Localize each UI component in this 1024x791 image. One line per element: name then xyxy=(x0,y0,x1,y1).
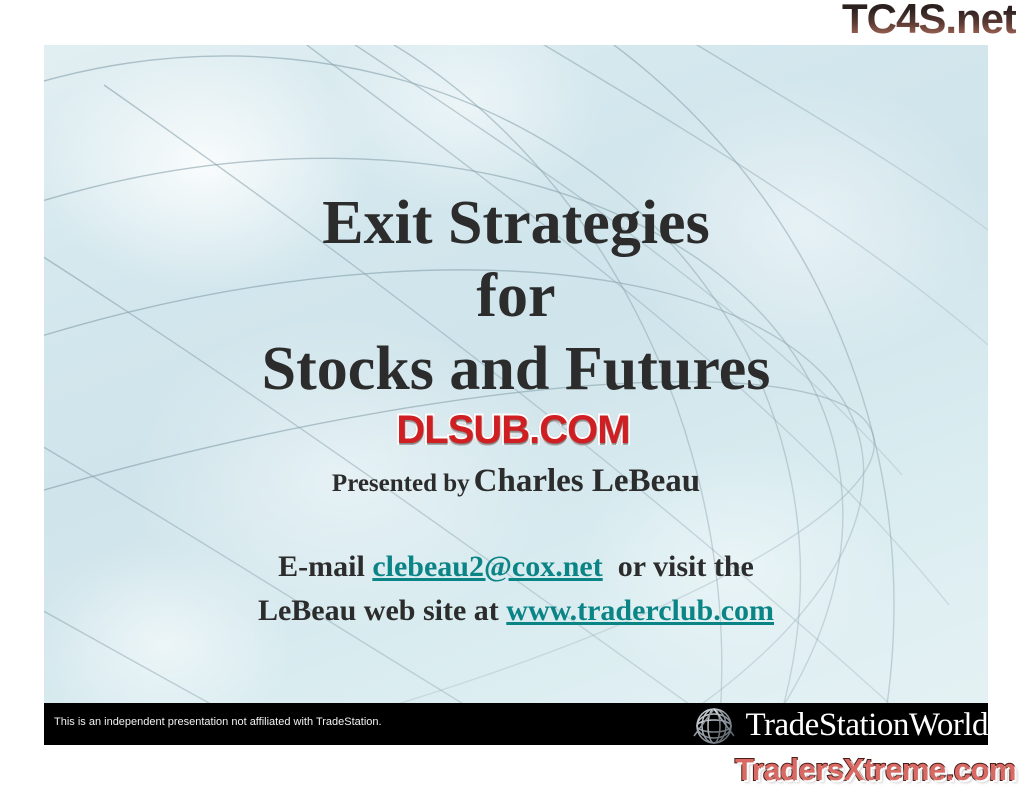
email-label: E-mail xyxy=(278,550,365,583)
logo-wordmark: TradeStationWorld xyxy=(746,707,988,743)
presentation-slide: Exit Strategies for Stocks and Futures D… xyxy=(44,45,988,745)
tradersxtreme-watermark: TradersXtreme.com xyxy=(735,754,1016,785)
website-label: LeBeau web site at xyxy=(258,594,499,627)
tradestationworld-logo: TradeStationWorld xyxy=(688,705,988,745)
title-line-1: Exit Strategies xyxy=(44,187,988,260)
presenter-line: Presented by Charles LeBeau xyxy=(44,463,988,500)
contact-block: E-mail clebeau2@cox.net or visit the LeB… xyxy=(44,545,988,634)
slide-title-block: Exit Strategies for Stocks and Futures xyxy=(44,187,988,406)
email-link[interactable]: clebeau2@cox.net xyxy=(372,550,602,583)
presented-by-label: Presented by xyxy=(332,470,470,497)
contact-website-line: LeBeau web site at www.traderclub.com xyxy=(44,589,988,633)
tradestationworld-logo-text: TradeStationWorld xyxy=(746,709,988,742)
email-line-suffix: or visit the xyxy=(618,550,754,583)
disclaimer-text: This is an independent presentation not … xyxy=(54,716,382,728)
presenter-name: Charles LeBeau xyxy=(474,463,700,499)
dlsub-watermark-text: DLSUB.COM xyxy=(396,408,629,452)
website-link[interactable]: www.traderclub.com xyxy=(506,594,774,627)
footer-bar: This is an independent presentation not … xyxy=(44,703,988,745)
tc4s-site-watermark: TC4S.net xyxy=(842,0,1016,40)
globe-icon xyxy=(688,706,744,744)
title-line-3: Stocks and Futures xyxy=(44,333,988,406)
dlsub-watermark: DLSUB.COM xyxy=(390,407,635,456)
contact-email-line: E-mail clebeau2@cox.net or visit the xyxy=(44,545,988,589)
title-line-2: for xyxy=(44,260,988,333)
